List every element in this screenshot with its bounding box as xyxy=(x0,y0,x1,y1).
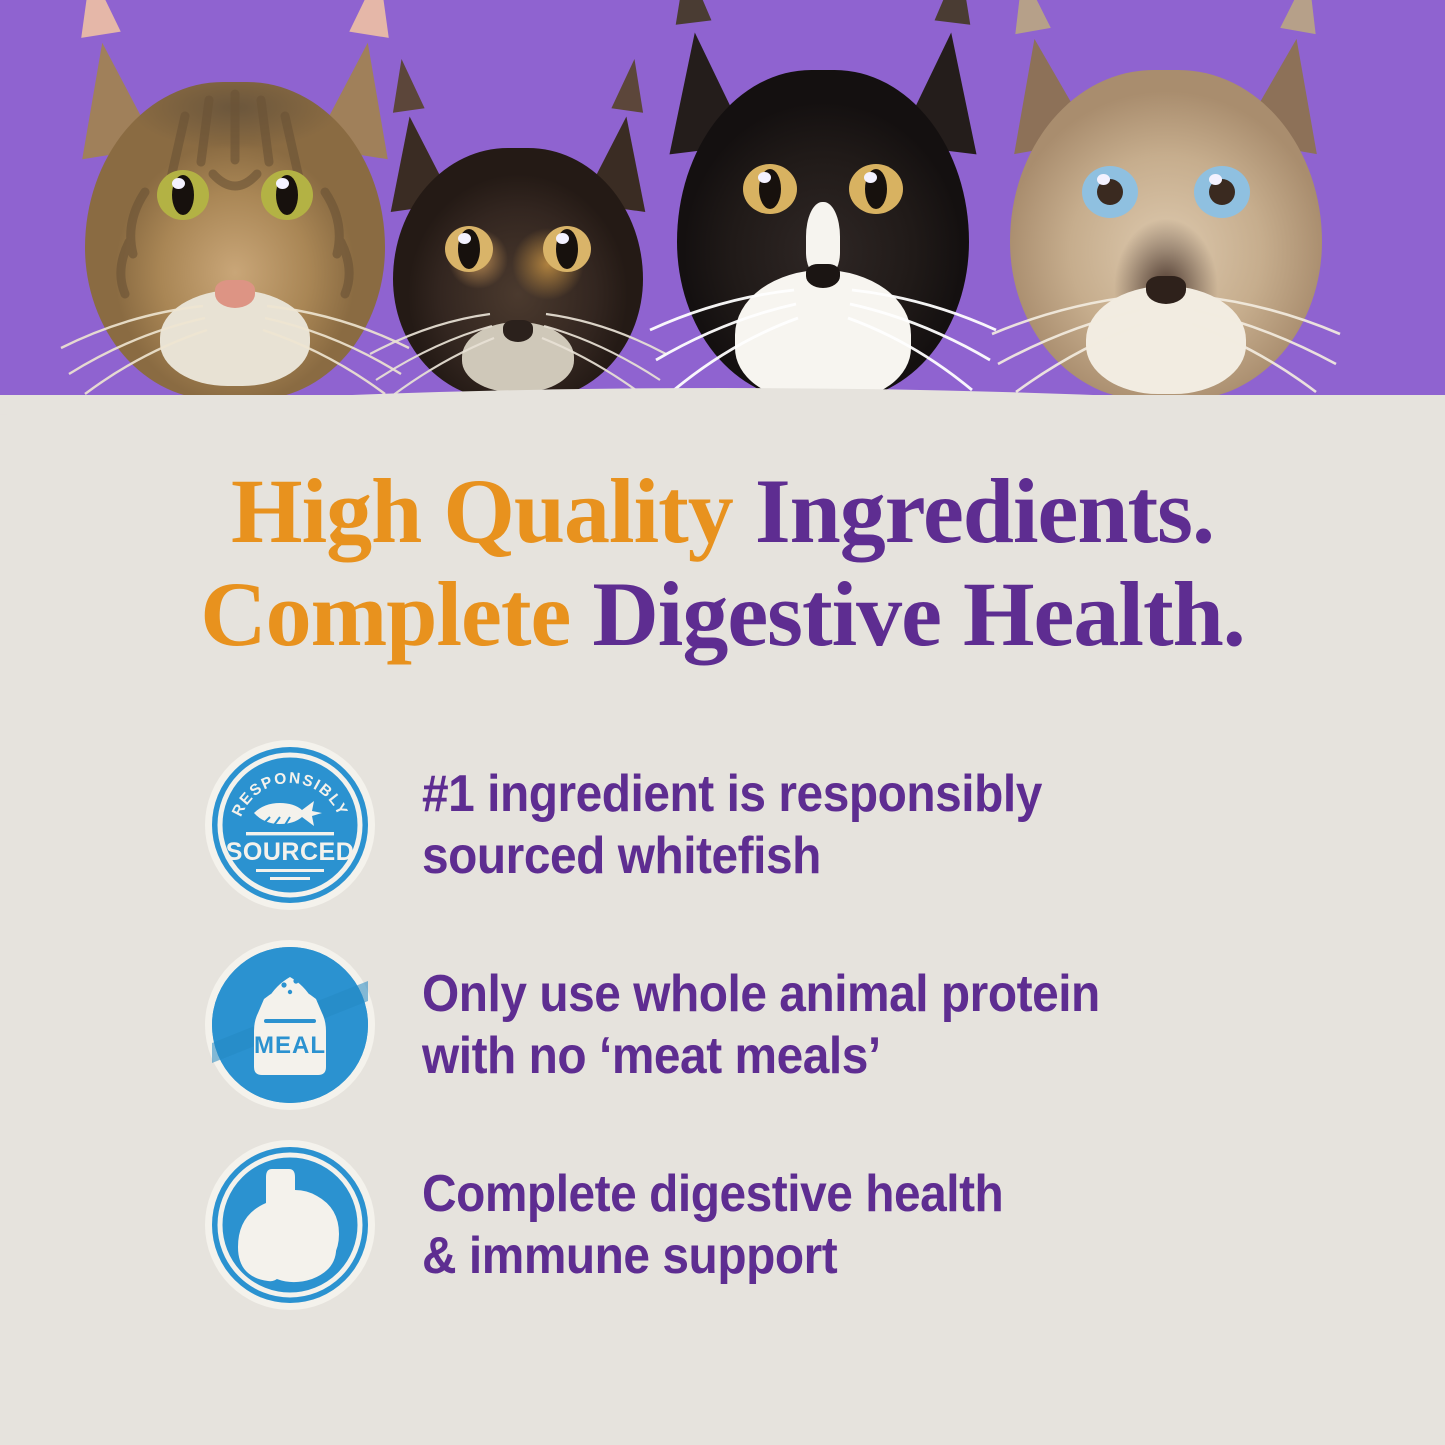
feature-text: Only use whole animal protein with no ‘m… xyxy=(422,963,1100,1088)
feature-2-line-2: with no ‘meat meals’ xyxy=(422,1025,1100,1087)
svg-text:MEAL: MEAL xyxy=(254,1032,326,1059)
headline-line-2: Complete Digestive Health. xyxy=(0,563,1445,666)
feature-1-line-2: sourced whitefish xyxy=(422,825,1042,887)
feature-list: RESPONSIBLY SOURCED #1 ingredient is res… xyxy=(0,725,1445,1325)
responsibly-sourced-fish-seal-icon: RESPONSIBLY SOURCED xyxy=(212,747,368,903)
brown-tabby-cat xyxy=(55,0,415,400)
cat-eye-left xyxy=(157,170,209,220)
cat-muzzle xyxy=(735,270,911,400)
list-item: RESPONSIBLY SOURCED #1 ingredient is res… xyxy=(0,725,1445,925)
stomach-heart-digestive-icon xyxy=(212,1147,368,1303)
cat-nose xyxy=(1146,276,1186,304)
feature-3-line-1: Complete digestive health xyxy=(422,1163,1003,1225)
feature-text: #1 ingredient is responsibly sourced whi… xyxy=(422,763,1042,888)
svg-text:SOURCED: SOURCED xyxy=(226,838,355,866)
cat-eye-right xyxy=(261,170,313,220)
list-item: MEAL Only use whole animal protein with … xyxy=(0,925,1445,1125)
cat-head xyxy=(677,70,969,400)
cat-photo-row xyxy=(0,0,1445,400)
headline-line-1: High Quality Ingredients. xyxy=(0,460,1445,563)
cat-eye-left xyxy=(1082,166,1138,218)
feature-1-line-1: #1 ingredient is responsibly xyxy=(422,763,1042,825)
cat-hero-banner xyxy=(0,0,1445,400)
cat-nose xyxy=(806,264,840,288)
cat-head xyxy=(393,148,643,400)
no-meat-meal-sack-icon: MEAL xyxy=(212,947,368,1103)
cat-eye-right xyxy=(849,164,903,214)
headline-line-2-purple: Digestive Health. xyxy=(592,563,1244,665)
cat-nose xyxy=(503,320,533,342)
cat-eye-right xyxy=(1194,166,1250,218)
cat-head xyxy=(85,82,385,400)
tuxedo-cat xyxy=(648,0,998,400)
feature-2-line-1: Only use whole animal protein xyxy=(422,963,1100,1025)
headline-line-1-orange: High Quality xyxy=(231,460,755,562)
content-sheet: High Quality Ingredients. Complete Diges… xyxy=(0,395,1445,1445)
list-item: Complete digestive health & immune suppo… xyxy=(0,1125,1445,1325)
feature-3-line-2: & immune support xyxy=(422,1225,1003,1287)
cat-eye-right xyxy=(543,226,591,272)
cat-head xyxy=(1010,70,1322,400)
page-title: High Quality Ingredients. Complete Diges… xyxy=(0,460,1445,666)
headline-line-1-purple: Ingredients. xyxy=(755,460,1214,562)
cat-eye-left xyxy=(743,164,797,214)
headline-line-2-orange: Complete xyxy=(200,563,592,665)
cat-nose xyxy=(215,280,255,308)
cat-eye-left xyxy=(445,226,493,272)
feature-text: Complete digestive health & immune suppo… xyxy=(422,1163,1003,1288)
tortoiseshell-kitten xyxy=(368,100,668,400)
seal-point-ragdoll-cat xyxy=(988,0,1343,400)
